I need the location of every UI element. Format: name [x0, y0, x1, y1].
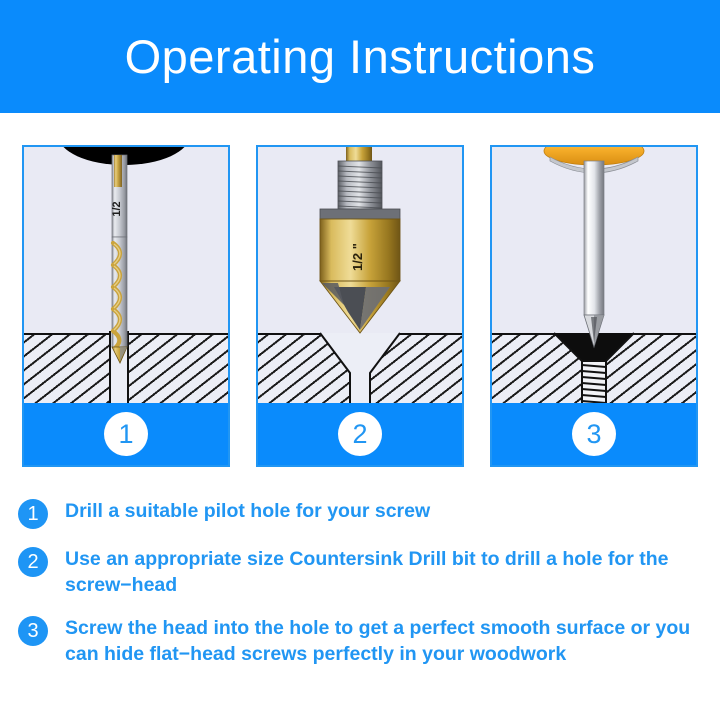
illustration-panels: 1/2 1	[22, 145, 698, 467]
panel-step-2: 1/2 " 2	[256, 145, 464, 467]
instruction-text-2: Use an appropriate size Countersink Dril…	[65, 546, 715, 598]
instruction-item-2: 2 Use an appropriate size Countersink Dr…	[0, 546, 720, 598]
header-banner: Operating Instructions	[0, 0, 720, 113]
svg-text:1/2: 1/2	[111, 201, 123, 216]
instruction-badge-1: 1	[18, 499, 48, 529]
panel-3-caption-band: 3	[492, 403, 696, 465]
instructions-list: 1 Drill a suitable pilot hole for your s…	[0, 498, 720, 684]
instruction-text-3: Screw the head into the hole to get a pe…	[65, 615, 715, 667]
panel-step-3: 3	[490, 145, 698, 467]
instruction-item-3: 3 Screw the head into the hole to get a …	[0, 615, 720, 667]
panel-step-1: 1/2 1	[22, 145, 230, 467]
svg-text:1/2 ": 1/2 "	[350, 243, 365, 271]
panel-2-caption-band: 2	[258, 403, 462, 465]
panel-3-step-number: 3	[572, 412, 616, 456]
panel-2-step-number: 2	[338, 412, 382, 456]
instruction-item-1: 1 Drill a suitable pilot hole for your s…	[0, 498, 720, 529]
page-title: Operating Instructions	[125, 33, 596, 80]
panel-1-caption-band: 1	[24, 403, 228, 465]
panel-1-step-number: 1	[104, 412, 148, 456]
instruction-badge-3: 3	[18, 616, 48, 646]
instruction-text-1: Drill a suitable pilot hole for your scr…	[65, 498, 430, 524]
instruction-badge-2: 2	[18, 547, 48, 577]
